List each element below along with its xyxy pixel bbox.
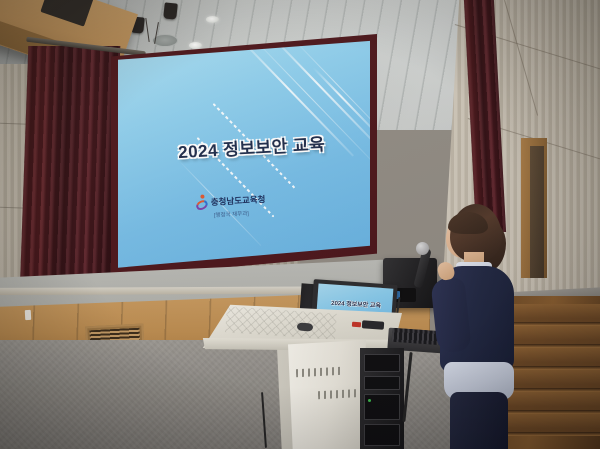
curtain-pleats	[20, 46, 121, 294]
auditorium-photo: 2024 정보보안 교육 충청남도교육청 [행정국 재무과]	[0, 0, 600, 449]
wall-switch-icon[interactable]	[25, 310, 32, 320]
presenter-trousers	[450, 392, 508, 449]
rack-unit	[364, 376, 400, 390]
podium-vent-slots	[296, 367, 342, 377]
rack-unit	[364, 394, 400, 420]
podium-column	[288, 340, 366, 449]
rack-status-led	[368, 399, 371, 402]
curtain-left	[20, 46, 121, 294]
downlight-icon	[189, 42, 202, 49]
slide-organization: 충청남도교육청	[210, 193, 265, 208]
podium-control-pad[interactable]	[362, 320, 385, 330]
downlight-icon	[206, 16, 219, 23]
projection-screen: 2024 정보보안 교육 충청남도교육청 [행정국 재무과]	[118, 39, 370, 270]
podium-vent-slots	[318, 389, 364, 399]
rack-unit	[364, 424, 400, 446]
equipment-rack	[360, 348, 404, 449]
presenter	[432, 204, 522, 449]
slide-department: [행정국 재무과]	[214, 209, 249, 219]
track-spotlight-icon	[163, 2, 178, 19]
slide-title: 2024 정보보안 교육	[177, 130, 325, 163]
podium-mouse[interactable]	[297, 322, 314, 331]
stage-door-right-opening	[530, 146, 544, 278]
monitor-slide-title: 2024 정보보안 교육	[331, 298, 381, 310]
microphone-icon	[416, 242, 429, 255]
podium-power-button[interactable]	[352, 322, 361, 328]
slide-logo: 충청남도교육청 [행정국 재무과]	[195, 191, 266, 220]
rack-unit	[364, 354, 400, 372]
education-office-logo-icon	[195, 194, 208, 210]
